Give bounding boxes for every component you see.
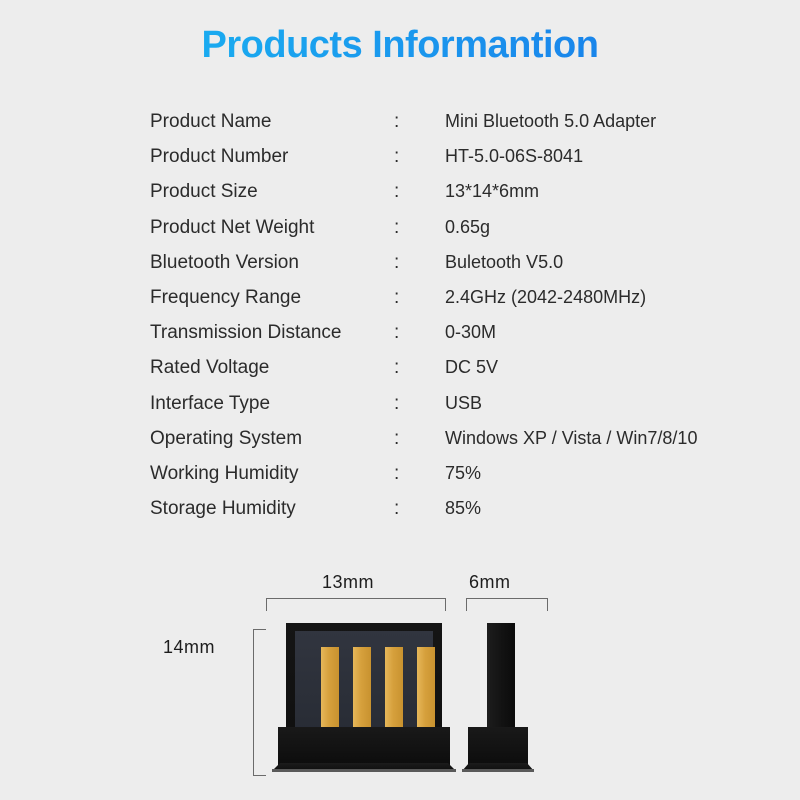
adapter-body-side — [468, 727, 528, 767]
spec-value: DC 5V — [445, 350, 498, 385]
adapter-side-view — [466, 623, 546, 775]
table-row: Interface Type : USB — [150, 386, 770, 421]
spec-label: Product Size — [150, 174, 258, 209]
spec-separator: : — [394, 245, 399, 280]
spec-label: Working Humidity — [150, 456, 299, 491]
spec-label: Bluetooth Version — [150, 245, 299, 280]
spec-separator: : — [394, 280, 399, 315]
spec-label: Product Net Weight — [150, 210, 314, 245]
dimension-line-width — [266, 598, 446, 611]
spec-label: Storage Humidity — [150, 491, 296, 526]
dimension-label-width: 13mm — [322, 572, 374, 593]
spec-label: Rated Voltage — [150, 350, 269, 385]
spec-separator: : — [394, 456, 399, 491]
usb-contact-pin — [417, 647, 435, 733]
spec-label: Interface Type — [150, 386, 270, 421]
product-specification-table: Product Name : Mini Bluetooth 5.0 Adapte… — [150, 104, 770, 526]
adapter-foot-strip-side — [462, 769, 534, 772]
spec-value: 0.65g — [445, 210, 490, 245]
usb-contact-pin — [353, 647, 371, 733]
spec-value: Mini Bluetooth 5.0 Adapter — [445, 104, 656, 139]
spec-label: Frequency Range — [150, 280, 301, 315]
table-row: Bluetooth Version : Buletooth V5.0 — [150, 245, 770, 280]
table-row: Transmission Distance : 0-30M — [150, 315, 770, 350]
product-dimension-diagram: 13mm 6mm 14mm — [0, 555, 800, 800]
dimension-label-height: 14mm — [163, 637, 215, 658]
spec-label: Product Number — [150, 139, 288, 174]
spec-separator: : — [394, 421, 399, 456]
spec-separator: : — [394, 386, 399, 421]
usb-contact-pin — [385, 647, 403, 733]
spec-value: USB — [445, 386, 482, 421]
usb-contact-pin — [321, 647, 339, 733]
adapter-foot-strip-front — [272, 769, 456, 772]
spec-value: 75% — [445, 456, 481, 491]
spec-separator: : — [394, 104, 399, 139]
spec-label: Transmission Distance — [150, 315, 341, 350]
table-row: Product Size : 13*14*6mm — [150, 174, 770, 209]
spec-value: 85% — [445, 491, 481, 526]
page-title: Products Informantion — [0, 24, 800, 67]
table-row: Product Net Weight : 0.65g — [150, 210, 770, 245]
spec-separator: : — [394, 491, 399, 526]
spec-value: HT-5.0-06S-8041 — [445, 139, 583, 174]
spec-separator: : — [394, 350, 399, 385]
spec-separator: : — [394, 210, 399, 245]
spec-label: Operating System — [150, 421, 302, 456]
table-row: Product Name : Mini Bluetooth 5.0 Adapte… — [150, 104, 770, 139]
table-row: Frequency Range : 2.4GHz (2042-2480MHz) — [150, 280, 770, 315]
usb-connector-inner — [295, 631, 433, 733]
table-row: Operating System : Windows XP / Vista / … — [150, 421, 770, 456]
spec-separator: : — [394, 315, 399, 350]
table-row: Rated Voltage : DC 5V — [150, 350, 770, 385]
spec-label: Product Name — [150, 104, 271, 139]
spec-separator: : — [394, 139, 399, 174]
dimension-line-height — [253, 629, 266, 776]
spec-value: Windows XP / Vista / Win7/8/10 — [445, 421, 697, 456]
table-row: Product Number : HT-5.0-06S-8041 — [150, 139, 770, 174]
spec-value: Buletooth V5.0 — [445, 245, 563, 280]
dimension-label-depth: 6mm — [469, 572, 511, 593]
dimension-line-depth — [466, 598, 548, 611]
adapter-front-view — [278, 623, 450, 775]
usb-connector-side — [487, 623, 515, 735]
adapter-body-front — [278, 727, 450, 767]
spec-value: 13*14*6mm — [445, 174, 539, 209]
spec-value: 2.4GHz (2042-2480MHz) — [445, 280, 646, 315]
spec-value: 0-30M — [445, 315, 496, 350]
table-row: Storage Humidity : 85% — [150, 491, 770, 526]
usb-connector-frame — [286, 623, 442, 733]
table-row: Working Humidity : 75% — [150, 456, 770, 491]
spec-separator: : — [394, 174, 399, 209]
